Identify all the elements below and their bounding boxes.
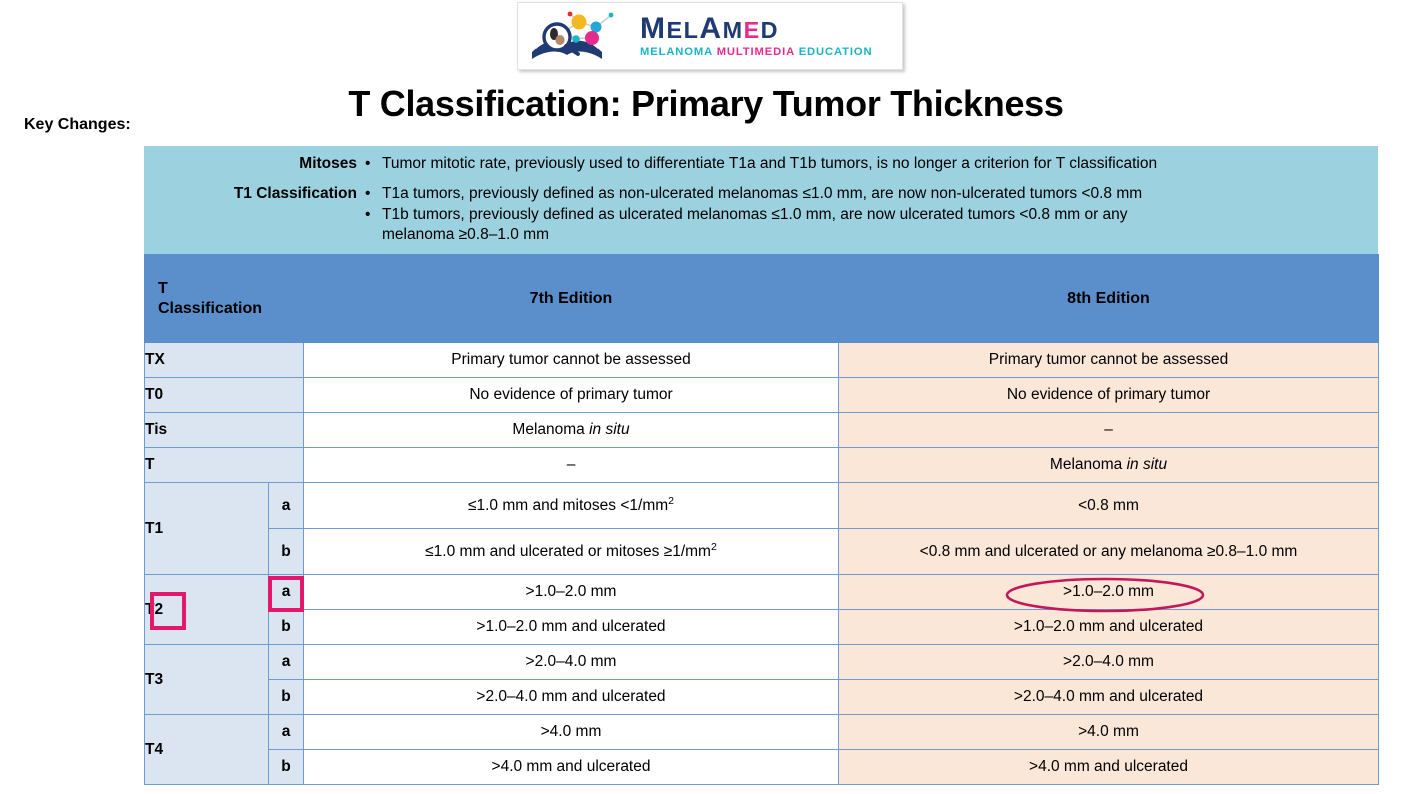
logo-word-melamed: MELAMED [640,14,872,44]
bullet-item: • Tumor mitotic rate, previously used to… [365,154,1372,175]
cell-classification: T3 [145,645,269,715]
cell-7th: >4.0 mm [304,715,839,750]
cell-8th: <0.8 mm [839,483,1379,529]
table-row: T0 No evidence of primary tumor No evide… [145,378,1379,413]
table-row: b ≤1.0 mm and ulcerated or mitoses ≥1/mm… [145,529,1379,575]
cell-subclass: b [269,529,304,575]
bullet-dot-icon: • [365,184,382,205]
bullet-item: • T1a tumors, previously defined as non-… [365,184,1372,205]
cell-7th: >4.0 mm and ulcerated [304,750,839,785]
logo-tagline-multimedia: MULTIMEDIA [717,46,795,58]
cell-8th-text: Melanoma [1050,456,1127,473]
cell-7th-text: ≤1.0 mm and mitoses <1/mm [468,497,668,514]
superscript-two: 2 [668,494,674,506]
table-row: T3 a >2.0–4.0 mm >2.0–4.0 mm [145,645,1379,680]
cell-7th-text: Melanoma [512,421,589,438]
table-row: T2 a >1.0–2.0 mm >1.0–2.0 mm [145,575,1379,610]
bullet-dot-icon: • [365,205,382,226]
bullet-text: T1a tumors, previously defined as non-ul… [382,184,1372,205]
table-row: Tis Melanoma in situ – [145,413,1379,448]
cell-7th: ≤1.0 mm and ulcerated or mitoses ≥1/mm2 [304,529,839,575]
bullet-item: • T1b tumors, previously defined as ulce… [365,205,1372,226]
cell-8th: >1.0–2.0 mm [839,575,1379,610]
cell-8th: – [839,413,1379,448]
cell-7th: Melanoma in situ [304,413,839,448]
table-row: T1 a ≤1.0 mm and mitoses <1/mm2 <0.8 mm [145,483,1379,529]
cell-classification: T [145,448,304,483]
cell-7th: >2.0–4.0 mm [304,645,839,680]
key-change-row-mitoses: Mitoses • Tumor mitotic rate, previously… [150,154,1372,175]
cell-8th: >2.0–4.0 mm [839,645,1379,680]
cell-classification: T0 [145,378,304,413]
cell-7th-text: ≤1.0 mm and ulcerated or mitoses ≥1/mm [425,543,711,560]
logo-tagline: MELANOMA MULTIMEDIA EDUCATION [640,47,872,58]
cell-7th: >2.0–4.0 mm and ulcerated [304,680,839,715]
key-changes-panel: Mitoses • Tumor mitotic rate, previously… [144,146,1378,254]
cell-7th: No evidence of primary tumor [304,378,839,413]
book-magnifier-network-icon [524,6,636,66]
cell-8th: >4.0 mm [839,715,1379,750]
cell-classification: T4 [145,715,269,785]
header-t-line1: T [158,279,303,299]
cell-8th: >1.0–2.0 mm and ulcerated [839,610,1379,645]
cell-classification: T1 [145,483,269,575]
key-change-term-t1-classification: T1 Classification [150,184,365,205]
cell-subclass: b [269,610,304,645]
logo-tagline-melanoma: MELANOMA [640,46,713,58]
cell-7th: >1.0–2.0 mm [304,575,839,610]
bullet-text: T1b tumors, previously defined as ulcera… [382,205,1372,226]
cell-8th-italic: in situ [1127,456,1168,473]
slide-canvas: MELAMED MELANOMA MULTIMEDIA EDUCATION T … [0,0,1412,794]
table-row: TX Primary tumor cannot be assessed Prim… [145,343,1379,378]
cell-classification: T2 [145,575,269,645]
melamed-logo: MELAMED MELANOMA MULTIMEDIA EDUCATION [517,2,903,70]
cell-8th: Primary tumor cannot be assessed [839,343,1379,378]
cell-classification: Tis [145,413,304,448]
header-cell-t-classification: T Classification [145,255,304,343]
logo-wordmark: MELAMED MELANOMA MULTIMEDIA EDUCATION [640,14,872,58]
header-t-line2: Classification [158,299,303,319]
cell-subclass: a [269,575,304,610]
cell-7th: – [304,448,839,483]
cell-classification: TX [145,343,304,378]
table-row: b >2.0–4.0 mm and ulcerated >2.0–4.0 mm … [145,680,1379,715]
bullet-continuation: melanoma ≥0.8–1.0 mm [365,225,1372,246]
cell-8th: No evidence of primary tumor [839,378,1379,413]
cell-7th: ≤1.0 mm and mitoses <1/mm2 [304,483,839,529]
header-cell-8th-edition: 8th Edition [839,255,1379,343]
page-title: T Classification: Primary Tumor Thicknes… [0,83,1412,125]
cell-8th: >2.0–4.0 mm and ulcerated [839,680,1379,715]
cell-subclass: b [269,750,304,785]
cell-subclass: b [269,680,304,715]
key-change-row-t1: T1 Classification • T1a tumors, previous… [150,184,1372,246]
header-cell-7th-edition: 7th Edition [304,255,839,343]
cell-7th: >1.0–2.0 mm and ulcerated [304,610,839,645]
bullet-text: Tumor mitotic rate, previously used to d… [382,154,1372,175]
cell-8th: <0.8 mm and ulcerated or any melanoma ≥0… [839,529,1379,575]
key-change-bullets-t1: • T1a tumors, previously defined as non-… [365,184,1372,246]
cell-8th: >4.0 mm and ulcerated [839,750,1379,785]
key-changes-label: Key Changes: [24,116,131,134]
key-change-term-mitoses: Mitoses [150,154,365,175]
cell-subclass: a [269,645,304,680]
bullet-dot-icon: • [365,154,382,175]
cell-7th-italic: in situ [589,421,630,438]
t-classification-table: T Classification 7th Edition 8th Edition… [144,254,1379,785]
table-row: b >4.0 mm and ulcerated >4.0 mm and ulce… [145,750,1379,785]
cell-7th: Primary tumor cannot be assessed [304,343,839,378]
table-row: T – Melanoma in situ [145,448,1379,483]
cell-8th: Melanoma in situ [839,448,1379,483]
cell-subclass: a [269,715,304,750]
table-header-row: T Classification 7th Edition 8th Edition [145,255,1379,343]
table-row: b >1.0–2.0 mm and ulcerated >1.0–2.0 mm … [145,610,1379,645]
cell-subclass: a [269,483,304,529]
key-change-bullets-mitoses: • Tumor mitotic rate, previously used to… [365,154,1372,175]
table-row: T4 a >4.0 mm >4.0 mm [145,715,1379,750]
logo-tagline-education: EDUCATION [799,46,873,58]
superscript-two: 2 [711,540,717,552]
